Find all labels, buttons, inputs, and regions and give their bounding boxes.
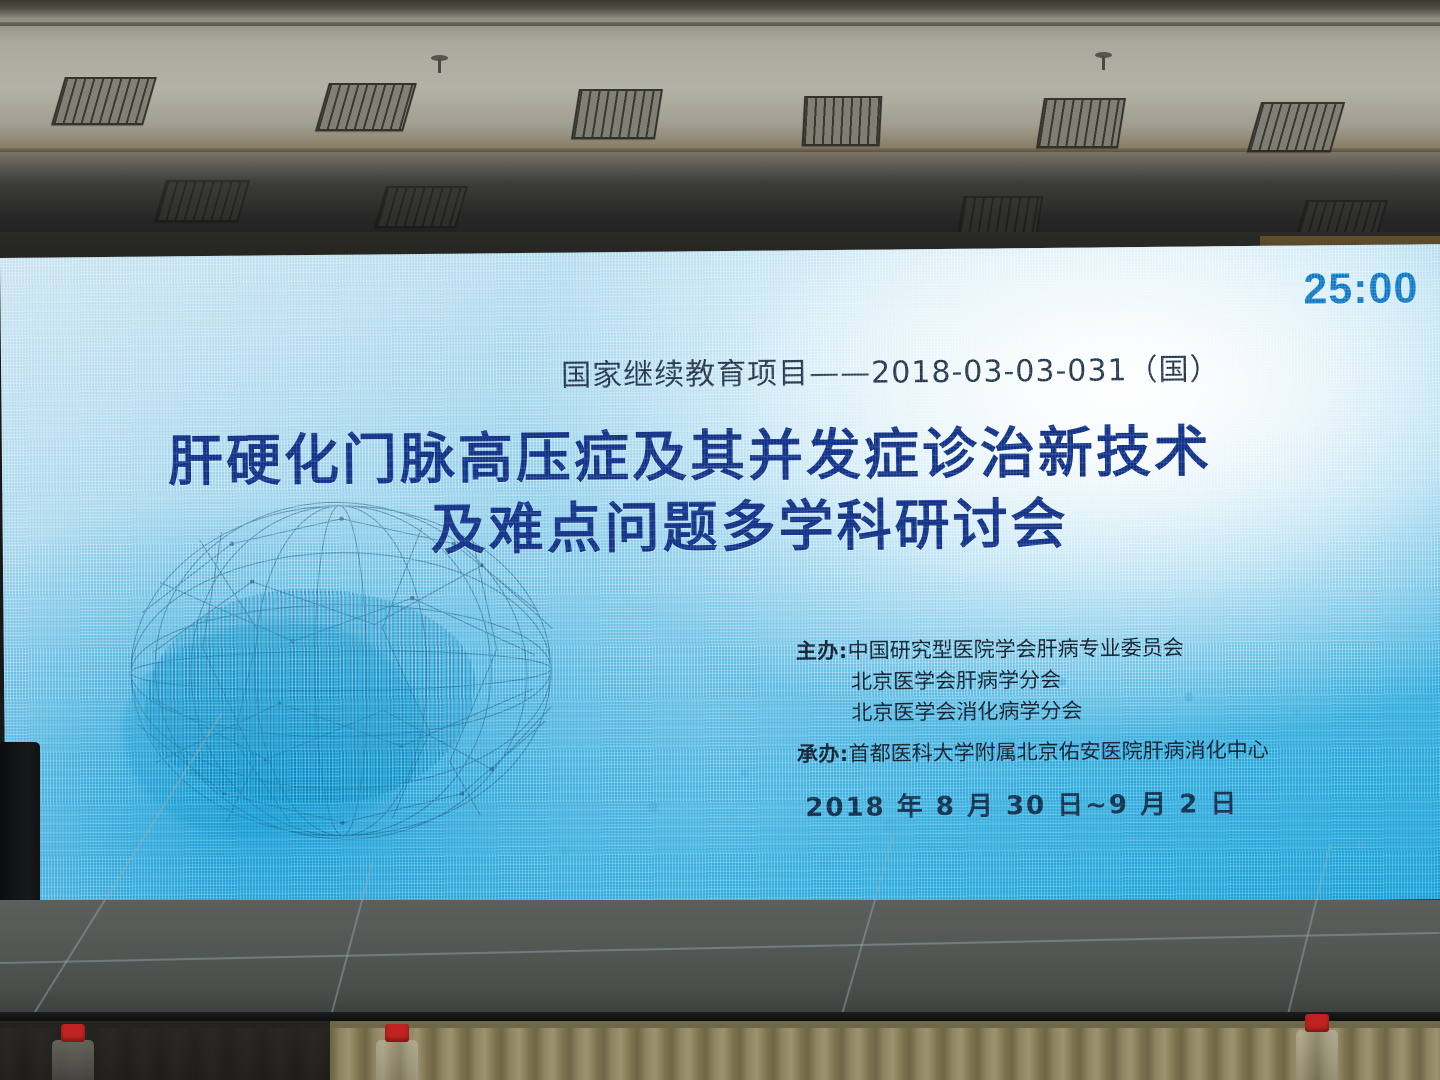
sprinkler-head-icon (1100, 52, 1107, 70)
water-bottle (52, 1040, 94, 1080)
ceiling-seam (0, 22, 1440, 26)
bottle-cap (61, 1024, 85, 1042)
ceiling-vent-icon (51, 77, 157, 125)
decor-dot (980, 867, 988, 875)
ceiling-vent-icon (315, 83, 417, 131)
foreground-dark-object (0, 742, 40, 914)
ceiling-vent-icon (571, 89, 663, 139)
ceiling-vent-icon (1036, 98, 1126, 148)
decor-dot (820, 856, 830, 866)
organizers-block: 主办:中国研究型医院学会肝病专业委员会 北京医学会肝病学分会 北京医学会消化病学… (796, 633, 1185, 730)
decor-dot (741, 769, 749, 777)
organizer-name: 北京医学会肝病学分会 (851, 668, 1061, 694)
organizer-row: 北京医学会肝病学分会 (796, 664, 1184, 699)
decor-dot (469, 819, 476, 826)
water-bottle (376, 1040, 418, 1080)
ceiling (0, 0, 1440, 262)
countdown-timer: 25:00 (1303, 264, 1418, 314)
ceiling-vent-icon (802, 96, 883, 146)
organizer-name: 中国研究型医院学会肝病专业委员会 (848, 636, 1184, 663)
stage-platform (0, 900, 1440, 1018)
host-name: 首都医科大学附属北京佑安医院肝病消化中心 (849, 738, 1269, 766)
stage-front-edge (0, 1012, 1440, 1021)
host-row: 承办:首都医科大学附属北京佑安医院肝病消化中心 (797, 734, 1269, 769)
conference-hall-scene: 25:00 国家继续教育项目——2018-03-03-031（国） 肝硬化门脉高… (0, 0, 1440, 1080)
led-screen-content: 25:00 国家继续教育项目——2018-03-03-031（国） 肝硬化门脉高… (0, 244, 1440, 913)
led-screen: 25:00 国家继续教育项目——2018-03-03-031（国） 肝硬化门脉高… (0, 244, 1440, 913)
organizer-name: 北京医学会消化病学分会 (851, 699, 1082, 725)
conference-date: 2018 年 8 月 30 日~9 月 2 日 (805, 783, 1238, 824)
bottle-cap (385, 1024, 409, 1042)
ceiling-seam-lower (0, 148, 1440, 152)
organizer-row: 主办:中国研究型医院学会肝病专业委员会 (796, 633, 1184, 668)
decor-dot (1399, 739, 1408, 748)
decor-dot (1128, 833, 1140, 845)
stage-seam (0, 932, 1440, 964)
ceiling-vent-icon (154, 180, 250, 222)
decor-dot (1261, 788, 1269, 796)
bottle-cap (1305, 1014, 1329, 1032)
stage-skirt-shadow (0, 1021, 330, 1080)
decor-dot (560, 847, 569, 856)
organizer-row: 北京医学会消化病学分会 (796, 695, 1184, 730)
program-code-subtitle: 国家继续教育项目——2018-03-03-031（国） (561, 344, 1221, 394)
organizers-label: 主办: (796, 639, 848, 663)
host-label: 承办: (797, 742, 849, 766)
ceiling-vent-icon (1247, 102, 1345, 152)
ceiling-vent-icon (374, 186, 468, 228)
decor-dot (1356, 839, 1367, 850)
sprinkler-head-icon (436, 55, 443, 73)
conference-title-line2: 及难点问题多学科研讨会 (430, 479, 1069, 565)
decor-dot (647, 802, 658, 813)
decor-dot (1294, 710, 1301, 717)
water-bottle (1296, 1030, 1338, 1080)
decor-dot (1184, 693, 1193, 702)
